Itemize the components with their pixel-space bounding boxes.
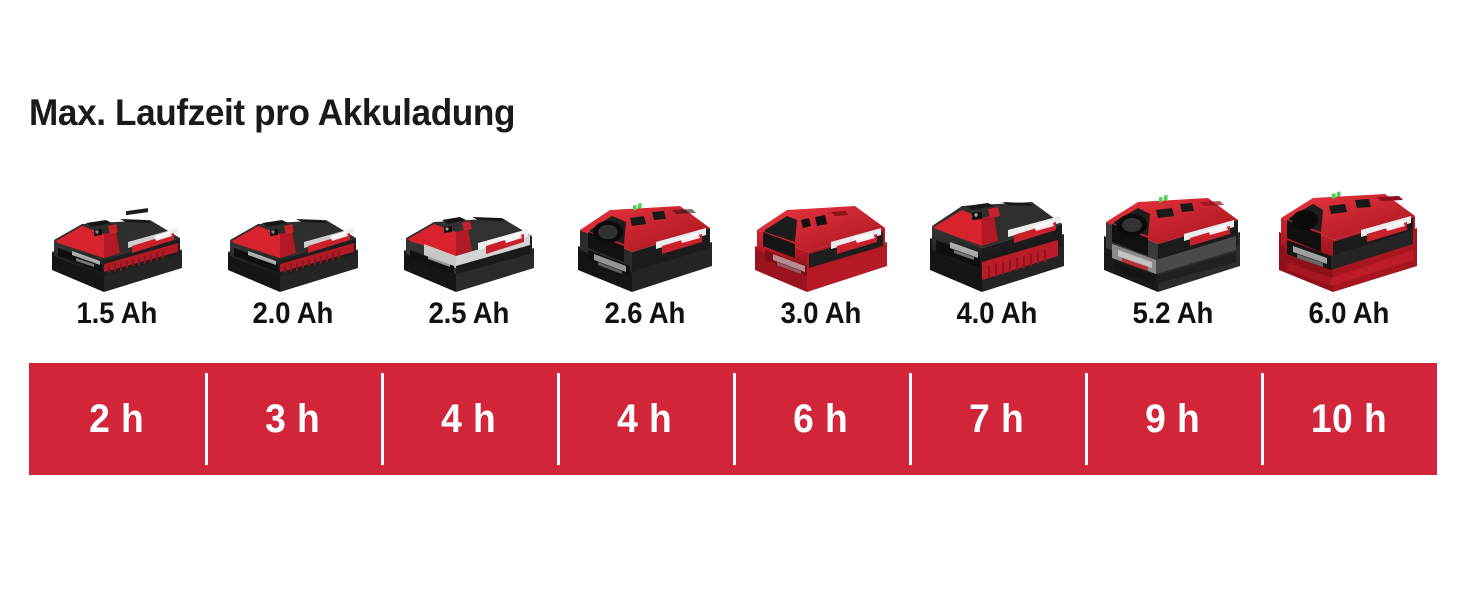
capacity-label-1: 2.0 Ah	[205, 297, 381, 333]
battery-image-row	[29, 186, 1437, 296]
capacity-label-4: 3.0 Ah	[733, 297, 909, 333]
capacity-label-7: 6.0 Ah	[1261, 297, 1437, 333]
runtime-hours-bar: 2 h 3 h 4 h 4 h 6 h 7 h 9 h 10 h	[29, 363, 1437, 475]
hour-value: 7 h	[969, 397, 1024, 442]
hour-cell-2: 4 h	[381, 363, 557, 475]
battery-pack-icon	[568, 192, 723, 296]
hour-value: 6 h	[793, 397, 848, 442]
capacity-label-6: 5.2 Ah	[1085, 297, 1261, 333]
capacity-text: 3.0 Ah	[781, 297, 862, 331]
capacity-label-2: 2.5 Ah	[381, 297, 557, 333]
runtime-infographic: Max. Laufzeit pro Akkuladung	[0, 0, 1464, 600]
page-title: Max. Laufzeit pro Akkuladung	[29, 92, 515, 134]
hour-cell-5: 7 h	[909, 363, 1085, 475]
battery-cell-4	[733, 186, 909, 296]
hour-cell-3: 4 h	[557, 363, 733, 475]
capacity-text: 2.5 Ah	[429, 297, 510, 331]
hour-value: 4 h	[617, 397, 672, 442]
battery-pack-icon	[42, 196, 192, 296]
battery-pack-icon	[745, 194, 897, 296]
hour-value: 2 h	[89, 397, 144, 442]
battery-cell-0	[29, 186, 205, 296]
capacity-text: 4.0 Ah	[957, 297, 1038, 331]
battery-pack-icon	[218, 196, 368, 296]
capacity-label-0: 1.5 Ah	[29, 297, 205, 333]
battery-pack-icon	[1094, 188, 1252, 296]
hour-cell-6: 9 h	[1085, 363, 1261, 475]
hour-cell-4: 6 h	[733, 363, 909, 475]
battery-cell-7	[1261, 186, 1437, 296]
battery-cell-3	[557, 186, 733, 296]
hour-cell-7: 10 h	[1261, 363, 1437, 475]
hour-value: 3 h	[265, 397, 320, 442]
capacity-label-5: 4.0 Ah	[909, 297, 1085, 333]
capacity-text: 2.0 Ah	[253, 297, 334, 331]
capacity-text: 6.0 Ah	[1309, 297, 1390, 331]
capacity-text: 2.6 Ah	[605, 297, 686, 331]
battery-cell-1	[205, 186, 381, 296]
capacity-text: 5.2 Ah	[1133, 297, 1214, 331]
battery-pack-icon	[1269, 186, 1429, 296]
capacity-label-3: 2.6 Ah	[557, 297, 733, 333]
battery-pack-icon	[920, 190, 1075, 296]
hour-value: 10 h	[1311, 397, 1387, 442]
capacity-label-row: 1.5 Ah 2.0 Ah 2.5 Ah 2.6 Ah 3.0 Ah 4.0 A…	[29, 297, 1437, 333]
hour-cell-1: 3 h	[205, 363, 381, 475]
battery-cell-5	[909, 186, 1085, 296]
hour-cell-0: 2 h	[29, 363, 205, 475]
battery-cell-2	[381, 186, 557, 296]
battery-cell-6	[1085, 186, 1261, 296]
hour-value: 9 h	[1145, 397, 1200, 442]
hour-value: 4 h	[441, 397, 496, 442]
battery-pack-icon	[394, 196, 544, 296]
capacity-text: 1.5 Ah	[77, 297, 158, 331]
